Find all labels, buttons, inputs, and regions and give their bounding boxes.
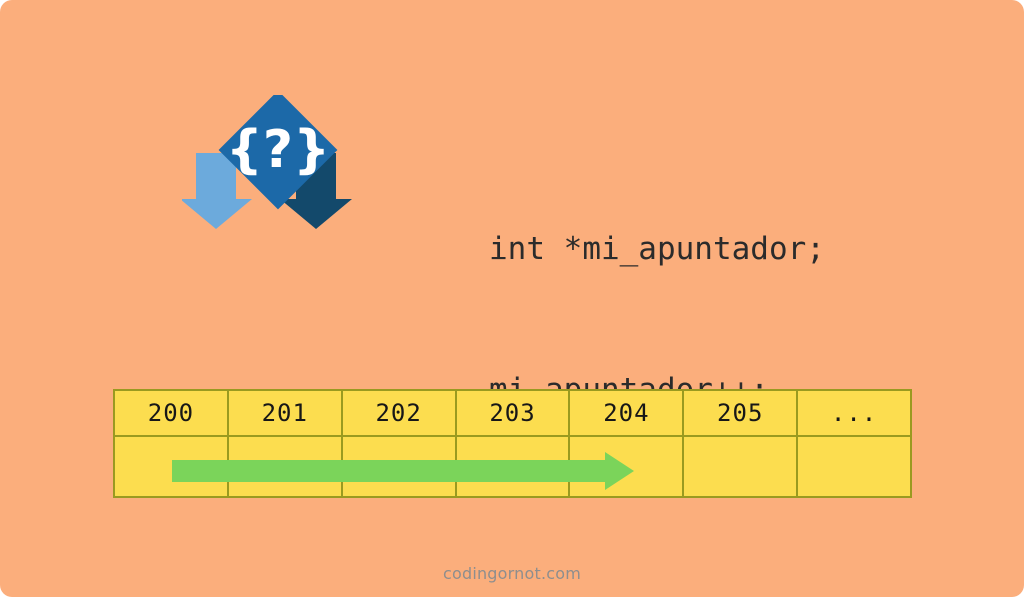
memory-address-cell: 205 <box>682 389 798 437</box>
memory-data-cell <box>341 437 457 498</box>
footer-credit: codingornot.com <box>0 564 1024 583</box>
coding-or-not-logo: {?} <box>182 95 362 230</box>
memory-address-row: 200 201 202 203 204 205 ... <box>113 389 912 437</box>
memory-address-label: 201 <box>262 401 308 425</box>
memory-data-cell <box>682 437 798 498</box>
logo-question-symbol: {?} <box>226 120 330 180</box>
memory-data-cell <box>455 437 571 498</box>
memory-address-cell: 204 <box>568 389 684 437</box>
memory-address-cell: ... <box>796 389 912 437</box>
memory-data-cell <box>568 437 684 498</box>
memory-address-cell: 201 <box>227 389 343 437</box>
memory-data-cell <box>113 437 229 498</box>
memory-address-label: 200 <box>148 401 194 425</box>
memory-data-cell <box>227 437 343 498</box>
memory-address-label: ... <box>831 401 877 425</box>
code-line-1: int *mi_apuntador; <box>489 226 825 273</box>
memory-address-cell: 200 <box>113 389 229 437</box>
memory-address-label: 204 <box>603 401 649 425</box>
memory-table: 200 201 202 203 204 205 ... <box>113 389 912 498</box>
memory-address-cell: 203 <box>455 389 571 437</box>
memory-address-label: 203 <box>489 401 535 425</box>
memory-address-label: 205 <box>717 401 763 425</box>
memory-data-row <box>113 437 912 498</box>
memory-data-cell <box>796 437 912 498</box>
diagram-canvas: {?} int *mi_apuntador; mi_apuntador++; 2… <box>0 0 1024 597</box>
memory-address-cell: 202 <box>341 389 457 437</box>
memory-address-label: 202 <box>375 401 421 425</box>
